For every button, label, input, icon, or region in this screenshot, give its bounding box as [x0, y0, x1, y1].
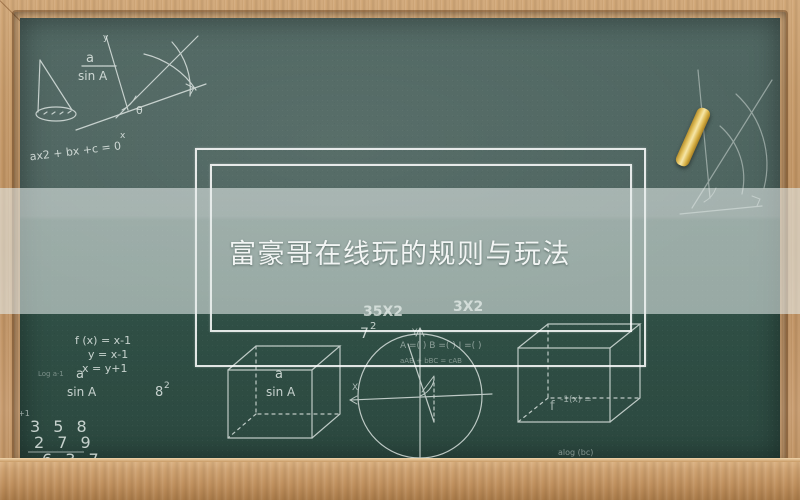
chalk-text-circle-axis-x: X: [352, 383, 358, 393]
chalk-tray-lip: [0, 458, 800, 462]
chalk-text-sub-row3: 6 3 7: [42, 450, 103, 458]
chalk-text-eight-exponent: 2: [164, 381, 170, 391]
chalk-text-a-numerator-3: a: [275, 367, 283, 382]
chalk-text-a-numerator: a: [86, 51, 94, 66]
chalk-text-fx-line2: y = x-1: [88, 348, 128, 361]
chalk-text-sinA-denominator: sin A: [78, 69, 108, 83]
chalk-text-sinA-denominator-3: sin A: [266, 385, 296, 399]
chalk-text-axis-x: x: [120, 131, 126, 141]
chalk-text-fx-line1: f (x) = x-1: [75, 334, 131, 347]
chalk-text-alog-bc: alog (bc): [558, 448, 593, 457]
chalk-text-quadratic: ax2 + bx +c = 0: [29, 139, 122, 163]
chalk-text-sinA-denominator-2: sin A: [67, 385, 97, 399]
chalkboard-banner-image: a sin A y x θ ax2 + bx +c = 0 a sin A 8 …: [0, 0, 800, 500]
headline-overlay-band: 富豪哥在线玩的规则与玩法: [0, 188, 800, 314]
page-title: 富豪哥在线玩的规则与玩法: [229, 232, 571, 271]
chalk-text-carry-plus: +1: [20, 409, 30, 418]
chalk-text-log-a1: Log a·1: [38, 370, 64, 378]
chalk-tray-ledge: [0, 458, 800, 500]
chalk-subtraction-problem: +1 3 5 8 2 7 9 6 3 7: [20, 409, 103, 458]
chalk-text-axis-y: y: [103, 33, 109, 43]
cone-sketch: [36, 60, 76, 121]
chalk-text-fx-line3: x = y+1: [82, 362, 127, 375]
chalk-text-theta: θ: [136, 104, 143, 117]
chalk-text-inverse-fn: f: [550, 399, 555, 414]
chalk-text-eight: 8: [155, 385, 163, 400]
chalk-text-inverse-exponent: -1(x) =: [560, 395, 592, 405]
